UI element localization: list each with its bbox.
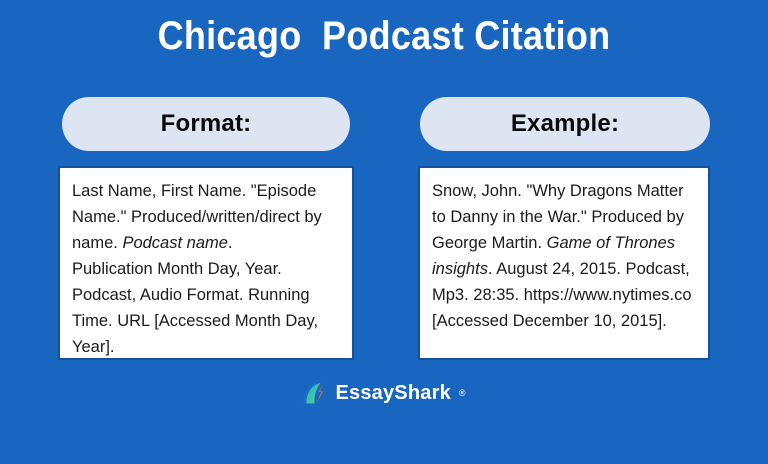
brand-name: EssayShark <box>335 381 450 405</box>
page-title: Chicago Podcast Citation <box>38 12 729 60</box>
format-column: Format: Last Name, First Name. "Episode … <box>62 97 350 360</box>
example-header-pill: Example: <box>420 97 710 151</box>
example-column: Example: Snow, John. "Why Dragons Matter… <box>420 97 710 360</box>
example-header-label: Example: <box>511 110 619 138</box>
format-body-text: Last Name, First Name. "Episode Name." P… <box>72 178 340 360</box>
essayshark-logo: EssayShark ® <box>0 381 768 405</box>
example-text-card: Snow, John. "Why Dragons Matter to Danny… <box>418 166 710 360</box>
text-run: Last Name, First Name. "Episode <box>72 182 321 200</box>
format-text-card: Last Name, First Name. "Episode Name." P… <box>58 166 354 360</box>
infographic-canvas: Chicago Podcast Citation Format: Last Na… <box>0 0 768 464</box>
shark-fin-icon <box>302 381 328 405</box>
example-body-text: Snow, John. "Why Dragons Matter to Danny… <box>432 178 696 334</box>
format-header-pill: Format: <box>62 97 350 151</box>
italic-run: Podcast name <box>122 234 227 252</box>
text-run: Name." Produced/written/direct <box>72 208 304 226</box>
registered-trademark-symbol: ® <box>459 381 466 405</box>
format-header-label: Format: <box>161 110 252 138</box>
text-run: . Publication Month Day, Year. Podcast, … <box>72 234 322 356</box>
